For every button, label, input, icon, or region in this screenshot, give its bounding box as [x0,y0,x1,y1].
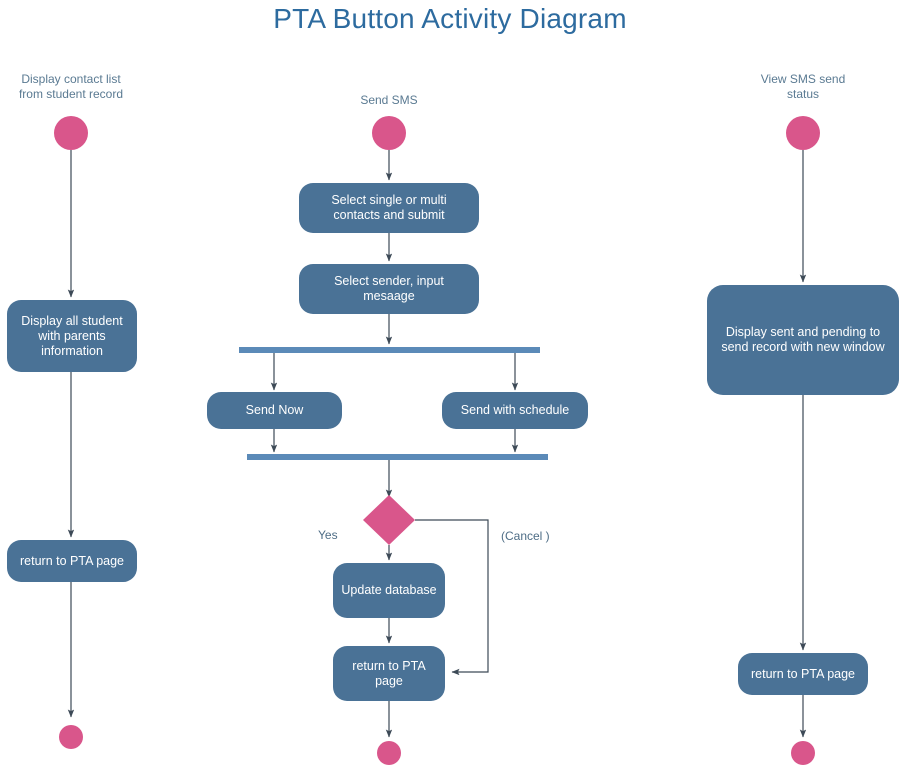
swimlane-label-middle-line1: Send SMS [319,93,459,108]
activity-send-with-schedule[interactable] [442,392,588,429]
swimlane-label-right-line2: status [733,87,873,102]
activity-select-contacts[interactable] [299,183,479,233]
activity-display-sent-pending[interactable] [707,285,899,395]
start-node-middle [372,116,406,150]
activity-diagram-canvas: PTA Button Activity Diagram [0,0,900,769]
start-node-left [54,116,88,150]
end-node-right [791,741,815,765]
end-node-left [59,725,83,749]
decision-node[interactable] [363,495,415,545]
swimlane-label-view-sms-send-status: View SMS send status [733,72,873,102]
swimlane-label-right-line1: View SMS send [733,72,873,87]
swimlane-label-left-line1: Display contact list [0,72,142,87]
swimlane-label-display-contact-list: Display contact list from student record [0,72,142,102]
edge-label-yes: Yes [318,528,338,542]
activity-send-now[interactable] [207,392,342,429]
swimlane-label-left-line2: from student record [0,87,142,102]
end-node-middle [377,741,401,765]
swimlane-label-send-sms: Send SMS [319,93,459,108]
activity-display-all-student[interactable] [7,300,137,372]
join-bar [247,454,548,460]
activity-update-database[interactable] [333,563,445,618]
activity-left-return-to-pta-page[interactable] [7,540,137,582]
activity-select-sender[interactable] [299,264,479,314]
activity-middle-return-to-pta-page[interactable] [333,646,445,701]
diagram-connector-layer [0,0,900,769]
activity-right-return-to-pta-page[interactable] [738,653,868,695]
start-node-right [786,116,820,150]
fork-bar [239,347,540,353]
edge-label-cancel: (Cancel ) [501,529,550,543]
